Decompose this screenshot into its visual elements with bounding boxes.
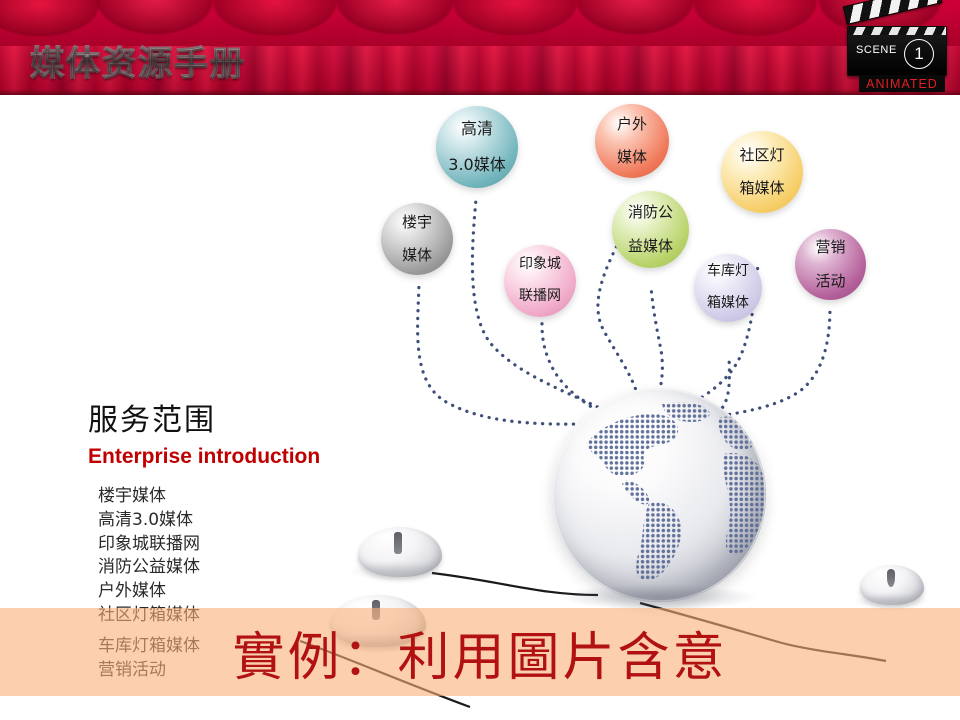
bubble-label: 户外媒体 <box>609 116 655 166</box>
bubble-yinxiangcheng-lianbowang[interactable]: 印象城联播网 <box>504 245 576 317</box>
bottom-banner: 實例：利用圖片含意 <box>0 608 960 696</box>
bubble-label: 楼宇媒体 <box>394 214 440 264</box>
bubble-gaoqing-30-meiti[interactable]: 高清3.0媒体 <box>436 106 518 188</box>
clapper-arm <box>843 0 943 25</box>
list-item: 消防公益媒体 <box>98 556 398 580</box>
bubble-label: 社区灯箱媒体 <box>731 147 792 197</box>
list-item: 印象城联播网 <box>98 533 398 557</box>
list-item: 户外媒体 <box>98 580 398 604</box>
clapper-stripes <box>848 27 946 35</box>
clapper-board: SCENE 1 <box>847 26 947 76</box>
bubble-label: 营销活动 <box>807 239 853 289</box>
animated-label: ANIMATED <box>859 75 945 92</box>
clapperboard-icon: SCENE 1 ANIMATED <box>845 6 951 92</box>
mouse-right <box>860 565 924 609</box>
bubble-huwai-meiti[interactable]: 户外媒体 <box>595 104 669 178</box>
bubble-louyu-meiti[interactable]: 楼宇媒体 <box>381 203 453 275</box>
bubble-label: 车库灯箱媒体 <box>699 264 757 311</box>
bubble-shequ-dengxiang-meiti[interactable]: 社区灯箱媒体 <box>721 131 803 213</box>
bubble-cheku-dengxiang-meiti[interactable]: 车库灯箱媒体 <box>694 254 762 322</box>
slide-header: 媒体资源手册 SCENE 1 ANIMATED <box>0 0 960 95</box>
service-scope-subtitle: Enterprise introduction <box>88 445 398 469</box>
globe-continents <box>552 388 766 602</box>
bubble-yingxiao-huodong[interactable]: 营销活动 <box>795 229 866 300</box>
globe-shadow <box>558 584 758 610</box>
list-item: 高清3.0媒体 <box>98 509 398 533</box>
slide-canvas: 媒体资源手册 SCENE 1 ANIMATED <box>0 0 960 720</box>
page-title: 媒体资源手册 <box>30 36 246 85</box>
list-item: 楼宇媒体 <box>98 485 398 509</box>
bubble-label: 消防公益媒体 <box>620 204 681 254</box>
globe-sphere <box>552 388 766 602</box>
banner-text: 實例：利用圖片含意 <box>232 615 727 690</box>
world-globe-graphic <box>552 388 766 602</box>
bubble-label: 印象城联播网 <box>511 257 569 304</box>
bubble-xiaofang-gongyi-meiti[interactable]: 消防公益媒体 <box>612 191 689 268</box>
scene-number-badge: 1 <box>904 39 934 69</box>
scene-label: SCENE <box>856 44 897 56</box>
service-scope-title: 服务范围 <box>88 395 398 439</box>
bubble-label: 高清3.0媒体 <box>440 120 513 174</box>
